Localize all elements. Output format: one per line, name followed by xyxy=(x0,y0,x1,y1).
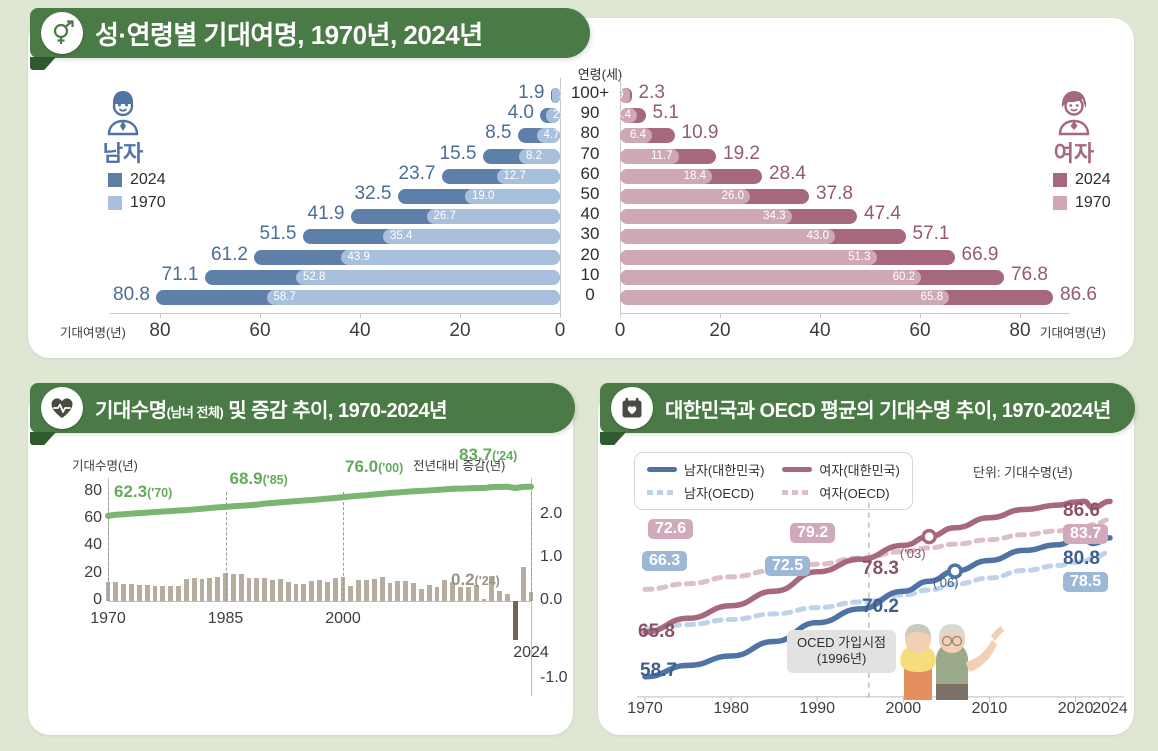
swatch-female-1970 xyxy=(1053,196,1067,210)
oecd-x-tick: 2000 xyxy=(868,700,938,718)
label-female-korea-mid: 78.3 xyxy=(862,558,899,580)
pyramid-value-female-1970: 6.4 xyxy=(622,128,646,143)
life-change-bar xyxy=(176,586,181,601)
pyramid-value-female-1970: 43.0 xyxy=(805,229,829,244)
left-axis-tick-label: 20 xyxy=(435,320,485,342)
life-point-value: 76.0 xyxy=(345,457,378,476)
pyramid-title: 성·연령별 기대여명, 1970년, 2024년 xyxy=(95,15,483,52)
age-axis-title: 연령(세) xyxy=(555,64,645,83)
pyramid-value-male-2024: 71.1 xyxy=(153,267,199,282)
oecd-x-tick: 1980 xyxy=(696,700,766,718)
life-title: 기대수명(남녀 전체) 및 증감 추이, 1970-2024년 xyxy=(95,394,447,423)
pyramid-bar-f70 xyxy=(620,250,877,265)
life-change-bar xyxy=(513,601,518,640)
pyramid-value-male-2024: 41.9 xyxy=(299,206,345,221)
tag-female-oecd-2024: 83.7 xyxy=(1063,524,1108,544)
pyramid-value-female-2024: 2.3 xyxy=(639,85,665,100)
life-change-bar xyxy=(442,580,447,602)
life-x-tick: 1970 xyxy=(73,610,143,628)
axis-tick xyxy=(560,313,561,318)
life-guide-line xyxy=(108,492,109,601)
life-change-bar xyxy=(411,583,416,601)
pyramid-value-male-1970: 8.2 xyxy=(526,149,542,164)
pyramid-value-female-1970: 51.3 xyxy=(847,250,871,265)
life-right-tick: 1.0 xyxy=(540,548,562,566)
right-axis-caption: 기대여명(년) xyxy=(1040,322,1106,341)
life-change-bar xyxy=(294,584,299,601)
heartbeat-icon xyxy=(41,387,83,429)
life-title-sub: (남녀 전체) xyxy=(167,405,224,420)
life-change-bar xyxy=(388,583,393,601)
pyramid-value-male-2024: 8.5 xyxy=(466,125,512,140)
pyramid-value-male-1970: 19.0 xyxy=(472,189,494,204)
tag-female-oecd-1970: 72.6 xyxy=(648,519,693,539)
life-change-bar xyxy=(184,579,189,601)
pyramid-value-male-1970: 43.9 xyxy=(348,250,370,265)
life-guide-line xyxy=(343,492,344,601)
marker-label-06: ('06) xyxy=(933,575,959,590)
life-change-bar xyxy=(113,582,118,601)
life-change-bar xyxy=(254,578,259,601)
tag-female-oecd-mid: 79.2 xyxy=(790,523,835,543)
pyramid-value-male-2024: 80.8 xyxy=(104,287,150,302)
life-change-bar xyxy=(121,584,126,601)
marker-label-03: ('03) xyxy=(900,546,926,561)
life-change-bar xyxy=(270,580,275,602)
life-change-bar xyxy=(333,578,338,601)
life-change-bar xyxy=(215,577,220,601)
age-label: 30 xyxy=(562,224,618,244)
life-left-tick: 20 xyxy=(74,564,102,582)
gender-symbols-icon xyxy=(41,12,83,54)
life-change-bar xyxy=(160,586,165,601)
swatch-male-2024 xyxy=(108,173,122,187)
axis-tick xyxy=(360,313,361,318)
life-change-bar xyxy=(380,577,385,601)
life-change-bar xyxy=(348,586,353,601)
label-male-korea-1970: 58.7 xyxy=(640,660,677,682)
pyramid-bar-m70 xyxy=(341,250,561,265)
left-axis-tick-label: 0 xyxy=(535,320,585,342)
life-change-bar xyxy=(395,581,400,601)
pyramid-panel-header: 성·연령별 기대여명, 1970년, 2024년 xyxy=(30,8,590,58)
pyramid-value-female-1970: 65.8 xyxy=(919,290,943,305)
left-axis-tick-label: 40 xyxy=(335,320,385,342)
pyramid-value-female-1970: 11.7 xyxy=(649,149,673,164)
life-change-bar xyxy=(364,580,369,602)
life-change-bar xyxy=(301,584,306,601)
swatch-male-1970 xyxy=(108,196,122,210)
pyramid-value-male-2024: 61.2 xyxy=(202,247,248,262)
pyramid-value-female-2024: 76.8 xyxy=(1011,267,1048,282)
swatch-female-2024 xyxy=(1053,173,1067,187)
life-point-label: 68.9('85) xyxy=(230,469,288,489)
life-change-bar xyxy=(247,578,252,601)
pyramid-value-female-1970: 60.2 xyxy=(891,270,915,285)
pyramid-value-female-1970: 34.3 xyxy=(762,209,786,224)
axis-tick xyxy=(620,313,621,318)
age-label: 50 xyxy=(562,184,618,204)
pyramid-value-female-2024: 5.1 xyxy=(653,105,679,120)
right-axis-tick-label: 20 xyxy=(695,320,745,342)
life-point-value: 68.9 xyxy=(230,469,263,488)
pyramid-bar-m70 xyxy=(267,290,561,305)
life-change-bar xyxy=(145,585,150,601)
right-axis-tick-label: 60 xyxy=(895,320,945,342)
legend-female-2024-label: 2024 xyxy=(1075,171,1111,189)
age-label: 70 xyxy=(562,144,618,164)
life-point-year: ('85) xyxy=(263,473,288,487)
life-change-bar xyxy=(505,594,510,601)
left-axis-line xyxy=(110,313,560,314)
pyramid-value-female-2024: 66.9 xyxy=(962,247,999,262)
pyramid-value-female-2024: 37.8 xyxy=(816,186,853,201)
life-change-bar xyxy=(403,581,408,601)
life-change-bar xyxy=(207,578,212,601)
male-avatar-icon xyxy=(95,86,151,138)
life-left-tick: 80 xyxy=(74,482,102,500)
life-point-label: 76.0('00) xyxy=(345,457,403,477)
life-change-bar xyxy=(419,589,424,601)
oecd-x-tick: 1990 xyxy=(782,700,852,718)
axis-tick xyxy=(460,313,461,318)
legend-female-1970-label: 1970 xyxy=(1075,194,1111,212)
pyramid-value-female-2024: 28.4 xyxy=(769,166,806,181)
life-x-tick: 1985 xyxy=(191,610,261,628)
life-x-tick: 2000 xyxy=(308,610,378,628)
pyramid-value-female-1970: 26.0 xyxy=(720,189,744,204)
life-change-bar xyxy=(482,599,487,601)
pyramid-value-male-1970: 2.8 xyxy=(553,108,569,123)
age-label: 0 xyxy=(562,285,618,305)
pyramid-value-male-2024: 4.0 xyxy=(488,105,534,120)
pyramid-value-male-2024: 1.9 xyxy=(499,85,545,100)
legend-male-2024: 2024 xyxy=(108,171,166,189)
label-male-korea-2024: 80.8 xyxy=(1063,548,1100,570)
life-panel-header: 기대수명(남녀 전체) 및 증감 추이, 1970-2024년 xyxy=(30,383,575,433)
oecd-join-annotation: OCED 가입시점 (1996년) xyxy=(787,630,896,673)
oecd-x-tick: 1970 xyxy=(610,700,680,718)
label-male-korea-mid: 70.2 xyxy=(862,596,899,618)
axis-tick xyxy=(820,313,821,318)
life-baseline xyxy=(108,601,532,602)
life-guide-line xyxy=(531,492,532,601)
age-label: 10 xyxy=(562,265,618,285)
life-change-bar xyxy=(278,579,283,601)
life-change-bar xyxy=(356,580,361,601)
life-left-tick: 60 xyxy=(74,509,102,527)
pyramid-value-male-2024: 23.7 xyxy=(390,166,436,181)
life-left-axis-caption: 기대수명(년) xyxy=(72,455,138,474)
pyramid-bar-f70 xyxy=(620,229,835,244)
tag-male-oecd-1970: 66.3 xyxy=(642,551,687,571)
legend-male-1970: 1970 xyxy=(108,194,166,212)
life-change-bar xyxy=(427,585,432,601)
pyramid-value-male-1970: 1.7 xyxy=(559,88,575,103)
pyramid-value-male-2024: 51.5 xyxy=(251,226,297,241)
left-axis-tick-label: 80 xyxy=(135,320,185,342)
life-expectancy-panel xyxy=(28,390,573,735)
pyramid-value-male-1970: 26.7 xyxy=(434,209,456,224)
legend-female-1970: 1970 xyxy=(1053,194,1111,212)
life-change-bar xyxy=(200,579,205,601)
life-point-label: 83.7('24) xyxy=(459,445,517,465)
life-left-tick: 0 xyxy=(74,591,102,609)
life-change-bar xyxy=(262,578,267,601)
pyramid-value-male-1970: 4.7 xyxy=(544,128,560,143)
tag-male-oecd-mid: 72.5 xyxy=(765,556,810,576)
pyramid-value-female-1970: 3.4 xyxy=(607,108,631,123)
pyramid-value-female-2024: 47.4 xyxy=(864,206,901,221)
pyramid-value-female-2024: 19.2 xyxy=(723,146,760,161)
life-change-bar xyxy=(372,579,377,601)
life-right-tick: 0.0 xyxy=(540,591,562,609)
oecd-x-tick: 2010 xyxy=(954,700,1024,718)
life-point-label: 62.3('70) xyxy=(114,482,172,502)
axis-tick xyxy=(720,313,721,318)
life-change-bar xyxy=(153,586,158,601)
life-change-year: ('24) xyxy=(475,574,500,588)
life-change-bar xyxy=(231,574,236,601)
life-change-label: 0.2('24) xyxy=(451,570,500,590)
oecd-join-line1: OCED 가입시점 xyxy=(797,635,886,651)
life-point-year: ('24) xyxy=(492,449,517,463)
male-label: 남자 xyxy=(68,136,178,168)
legend-male-2024-label: 2024 xyxy=(130,171,166,189)
legend-female-2024: 2024 xyxy=(1053,171,1111,189)
left-axis-tick-label: 60 xyxy=(235,320,285,342)
life-right-tick: 2.0 xyxy=(540,505,562,523)
age-label: 80 xyxy=(562,123,618,143)
pyramid-value-male-1970: 58.7 xyxy=(274,290,296,305)
life-change-bar xyxy=(435,587,440,601)
pyramid-value-female-1970: 18.4 xyxy=(682,169,706,184)
life-x-tick: 2024 xyxy=(496,644,566,662)
pyramid-bar-f70 xyxy=(620,290,949,305)
life-point-year: ('70) xyxy=(147,486,172,500)
pyramid-value-male-2024: 32.5 xyxy=(346,186,392,201)
right-axis-line xyxy=(620,313,1070,314)
oecd-title: 대한민국과 OECD 평균의 기대수명 추이, 1970-2024년 xyxy=(665,394,1111,423)
life-change-bar xyxy=(129,584,134,601)
legend-male-1970-label: 1970 xyxy=(130,194,166,212)
life-change-value: 0.2 xyxy=(451,570,475,589)
life-left-tick: 40 xyxy=(74,536,102,554)
life-change-bar xyxy=(168,586,173,601)
life-change-bar xyxy=(239,574,244,601)
axis-tick xyxy=(260,313,261,318)
life-change-bar xyxy=(137,585,142,601)
right-axis-tick-label: 40 xyxy=(795,320,845,342)
axis-tick xyxy=(160,313,161,318)
tag-male-oecd-2024: 78.5 xyxy=(1063,572,1108,592)
calendar-heart-icon xyxy=(611,387,653,429)
pyramid-value-male-1970: 52.8 xyxy=(303,270,325,285)
pyramid-value-male-2024: 15.5 xyxy=(431,146,477,161)
female-avatar-icon xyxy=(1046,86,1102,138)
axis-tick xyxy=(1020,313,1021,318)
life-title-main: 기대수명 xyxy=(95,400,167,422)
life-right-tick: -1.0 xyxy=(540,669,568,687)
life-change-bar xyxy=(497,591,502,601)
right-axis-tick-label: 80 xyxy=(995,320,1045,342)
life-title-rest: 및 증감 추이, 1970-2024년 xyxy=(223,400,447,422)
pyramid-bar-m70 xyxy=(296,270,560,285)
life-change-bar xyxy=(521,567,526,601)
life-guide-line xyxy=(226,492,227,601)
female-label: 여자 xyxy=(1019,136,1129,168)
pyramid-value-female-2024: 86.6 xyxy=(1060,287,1097,302)
oecd-join-line2: (1996년) xyxy=(797,651,886,667)
pyramid-value-female-2024: 10.9 xyxy=(682,125,719,140)
life-change-bar xyxy=(192,578,197,601)
right-axis-tick-label: 0 xyxy=(595,320,645,342)
label-female-korea-1970: 65.8 xyxy=(638,621,675,643)
pyramid-value-female-1970: 1.9 xyxy=(600,88,624,103)
oecd-panel-header: 대한민국과 OECD 평균의 기대수명 추이, 1970-2024년 xyxy=(600,383,1135,433)
age-label: 20 xyxy=(562,245,618,265)
age-label: 40 xyxy=(562,204,618,224)
life-point-value: 83.7 xyxy=(459,445,492,464)
life-change-bar xyxy=(286,582,291,601)
axis-tick xyxy=(920,313,921,318)
oecd-x-tick: 2024 xyxy=(1075,700,1145,718)
age-label: 60 xyxy=(562,164,618,184)
life-point-value: 62.3 xyxy=(114,482,147,501)
oecd-crossing-marker xyxy=(923,531,935,543)
pyramid-value-male-1970: 35.4 xyxy=(390,229,412,244)
pyramid-value-male-1970: 12.7 xyxy=(504,169,526,184)
left-axis-caption: 기대여명(년) xyxy=(60,322,126,341)
life-point-year: ('00) xyxy=(378,461,403,475)
pyramid-value-female-2024: 57.1 xyxy=(913,226,950,241)
life-change-bar xyxy=(309,581,314,601)
life-change-bar xyxy=(317,580,322,601)
label-female-korea-2024: 86.6 xyxy=(1063,500,1100,522)
life-change-bar xyxy=(325,582,330,601)
pyramid-bar-f70 xyxy=(620,270,921,285)
elderly-couple-pointing-illustration xyxy=(900,624,1004,700)
